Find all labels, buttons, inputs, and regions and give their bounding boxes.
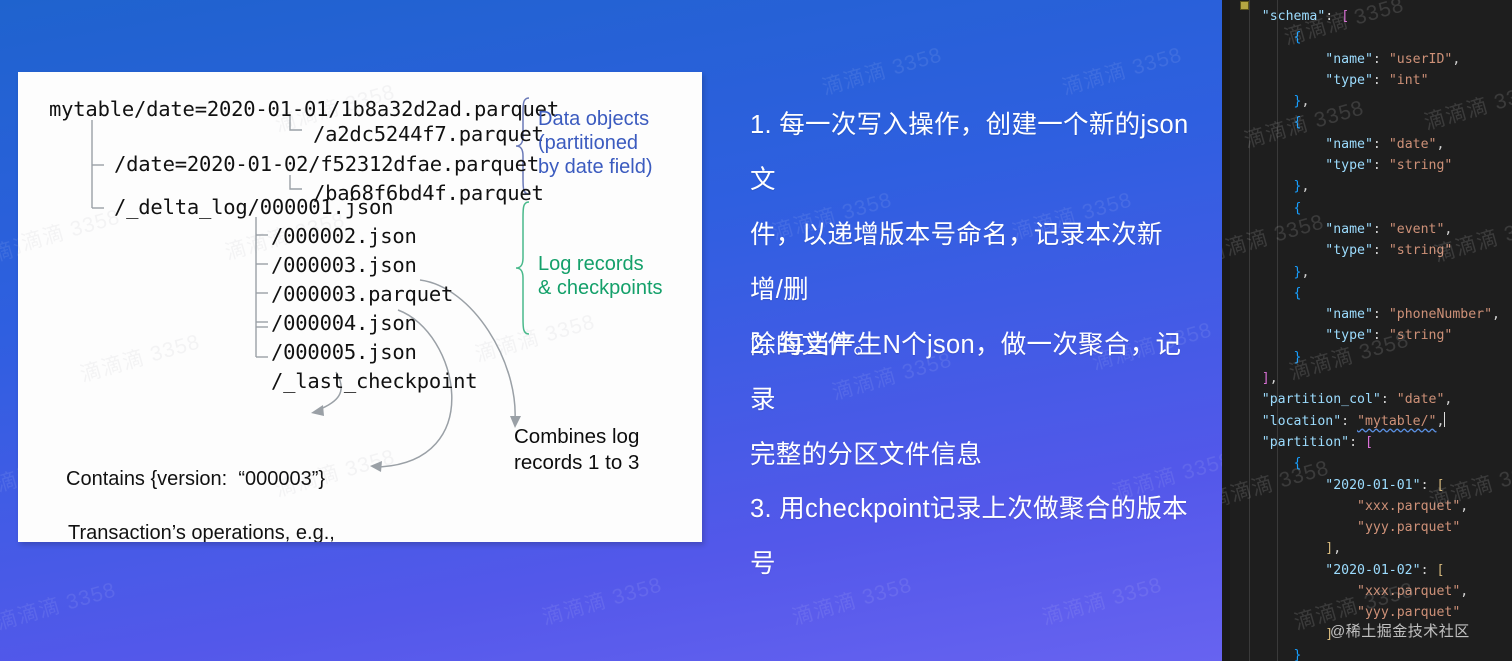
code-token: ,	[1301, 94, 1309, 109]
code-line[interactable]: },	[1222, 91, 1512, 112]
code-token: [	[1341, 9, 1349, 24]
code-token: "string"	[1389, 243, 1453, 258]
code-line[interactable]: "2020-01-01": [	[1222, 475, 1512, 496]
code-token: "partition"	[1262, 435, 1349, 450]
code-line[interactable]: "yyy.parquet"	[1222, 517, 1512, 538]
code-token: :	[1421, 563, 1437, 578]
annotation-log-records: Log records & checkpoints	[538, 252, 663, 300]
code-token: "location"	[1262, 414, 1341, 429]
code-line[interactable]: "xxx.parquet",	[1222, 496, 1512, 517]
code-line[interactable]: "2020-01-02": [	[1222, 560, 1512, 581]
code-token: {	[1294, 30, 1302, 45]
code-token: {	[1294, 456, 1302, 471]
code-token: ,	[1301, 179, 1309, 194]
code-token: ]	[1262, 371, 1270, 386]
code-token: "string"	[1389, 328, 1453, 343]
code-line[interactable]: {	[1222, 27, 1512, 48]
code-token: :	[1373, 158, 1389, 173]
code-token: :	[1373, 328, 1389, 343]
tree-line: /000005.json	[271, 342, 417, 362]
bullet-3: 3. 用checkpoint记录上次做聚合的版本号	[750, 482, 1210, 592]
diagram-card: 滴滴滴 3358 滴滴滴 3358 滴滴滴 3358 滴滴滴 3358 滴滴滴 …	[18, 72, 702, 542]
code-token: "schema"	[1262, 9, 1326, 24]
code-token: "string"	[1389, 158, 1453, 173]
code-line[interactable]: {	[1222, 283, 1512, 304]
code-line[interactable]: "name": "event",	[1222, 219, 1512, 240]
tree-line: /_last_checkpoint	[271, 371, 477, 391]
code-line[interactable]: "type": "string"	[1222, 240, 1512, 261]
tree-line: /date=2020-01-02/f52312dfae.parquet	[114, 154, 539, 174]
slide-panel: 滴滴滴 3358 滴滴滴 3358 滴滴滴 3358 滴滴滴 3358 滴滴滴 …	[0, 0, 1222, 661]
watermark: 滴滴滴 3358	[1058, 39, 1185, 102]
code-line[interactable]: ]	[1222, 624, 1512, 645]
code-line[interactable]: },	[1222, 176, 1512, 197]
code-line[interactable]: {	[1222, 198, 1512, 219]
code-token: "yyy.parquet"	[1357, 605, 1460, 620]
tree-line: /000003.parquet	[271, 284, 453, 304]
code-token: "partition_col"	[1262, 392, 1381, 407]
tree-line: /_delta_log/000001.json	[114, 197, 393, 217]
watermark: 滴滴滴 3358	[0, 574, 119, 637]
text-cursor	[1444, 412, 1445, 427]
code-token: }	[1294, 648, 1302, 661]
code-token: "2020-01-02"	[1325, 563, 1420, 578]
code-line[interactable]: },	[1222, 262, 1512, 283]
tree-line: /000003.json	[271, 255, 417, 275]
code-token: "xxx.parquet"	[1357, 584, 1460, 599]
code-line[interactable]: {	[1222, 453, 1512, 474]
tree-line: /a2dc5244f7.parquet	[313, 124, 544, 144]
code-token: :	[1373, 307, 1389, 322]
code-token: {	[1294, 201, 1302, 216]
code-token: "event"	[1389, 222, 1445, 237]
code-line[interactable]: "yyy.parquet"	[1222, 602, 1512, 623]
code-token: ,	[1460, 584, 1468, 599]
code-token: "type"	[1325, 243, 1373, 258]
code-token: [	[1436, 563, 1444, 578]
code-token: "type"	[1325, 328, 1373, 343]
code-line[interactable]: }	[1222, 645, 1512, 661]
code-token: "int"	[1389, 73, 1429, 88]
code-token: {	[1294, 286, 1302, 301]
code-token: "type"	[1325, 158, 1373, 173]
code-token: "userID"	[1389, 52, 1453, 67]
code-token: ,	[1436, 137, 1444, 152]
tree-line: /000002.json	[271, 226, 417, 246]
code-line[interactable]: ],	[1222, 538, 1512, 559]
code-token: "name"	[1325, 52, 1373, 67]
code-line[interactable]: "name": "phoneNumber",	[1222, 304, 1512, 325]
code-token: ,	[1333, 541, 1341, 556]
code-token: :	[1341, 414, 1357, 429]
code-line[interactable]: "type": "string"	[1222, 155, 1512, 176]
code-token: :	[1373, 137, 1389, 152]
watermark: 滴滴滴 3358	[818, 39, 945, 102]
code-line[interactable]: "name": "userID",	[1222, 49, 1512, 70]
code-token: ,	[1452, 52, 1460, 67]
annotation-data-objects: Data objects (partitioned by date field)	[538, 107, 653, 179]
code-line[interactable]: "name": "date",	[1222, 134, 1512, 155]
code-token: "date"	[1389, 137, 1437, 152]
code-token: "yyy.parquet"	[1357, 520, 1460, 535]
code-token: ,	[1270, 371, 1278, 386]
code-token: "date"	[1397, 392, 1445, 407]
code-token: :	[1373, 243, 1389, 258]
annotation-transaction-title: Transaction’s operations, e.g.,	[68, 522, 335, 542]
code-line[interactable]: "schema": [	[1222, 6, 1512, 27]
code-line[interactable]: "type": "string"	[1222, 325, 1512, 346]
code-token: ,	[1436, 414, 1444, 429]
code-token: ,	[1444, 222, 1452, 237]
code-token: "name"	[1325, 307, 1373, 322]
code-token: "2020-01-01"	[1325, 478, 1420, 493]
code-line[interactable]: {	[1222, 112, 1512, 133]
code-token: :	[1349, 435, 1365, 450]
code-token: ,	[1460, 499, 1468, 514]
screenshot-root: 滴滴滴 3358 滴滴滴 3358 滴滴滴 3358 滴滴滴 3358 滴滴滴 …	[0, 0, 1512, 661]
code-line[interactable]: "type": "int"	[1222, 70, 1512, 91]
bullet-2: 2. 每当产生N个json，做一次聚合，记录 完整的分区文件信息	[750, 318, 1190, 483]
code-token: "name"	[1325, 137, 1373, 152]
code-token: "phoneNumber"	[1389, 307, 1492, 322]
code-token: [	[1436, 478, 1444, 493]
code-editor-panel[interactable]: "schema": [ { "name": "userID", "type": …	[1222, 0, 1512, 661]
code-token: :	[1325, 9, 1341, 24]
code-token: "type"	[1325, 73, 1373, 88]
code-token: "name"	[1325, 222, 1373, 237]
code-token: {	[1294, 115, 1302, 130]
code-token: }	[1294, 350, 1302, 365]
code-line[interactable]: "partition_col": "date",	[1222, 389, 1512, 410]
code-token: :	[1381, 392, 1397, 407]
code-token: "xxx.parquet"	[1357, 499, 1460, 514]
code-token: :	[1421, 478, 1437, 493]
tree-line: /000004.json	[271, 313, 417, 333]
code-token: ,	[1301, 265, 1309, 280]
tree-line: mytable/date=2020-01-01/1b8a32d2ad.parqu…	[49, 99, 559, 119]
annotation-combines-log-records: Combines log records 1 to 3	[514, 424, 639, 476]
code-token: :	[1373, 73, 1389, 88]
code-token: :	[1373, 222, 1389, 237]
code-line[interactable]: "location": "mytable/",	[1222, 411, 1512, 432]
code-token: ,	[1444, 392, 1452, 407]
code-content[interactable]: "schema": [ { "name": "userID", "type": …	[1222, 0, 1512, 661]
code-token: ,	[1492, 307, 1500, 322]
code-token: "mytable/"	[1357, 414, 1436, 429]
code-token: ]	[1325, 627, 1333, 642]
code-token: [	[1365, 435, 1373, 450]
code-line[interactable]: "partition": [	[1222, 432, 1512, 453]
code-line[interactable]: }	[1222, 347, 1512, 368]
code-line[interactable]: "xxx.parquet",	[1222, 581, 1512, 602]
code-token: :	[1373, 52, 1389, 67]
watermark: 滴滴滴 3358	[538, 569, 665, 632]
annotation-contains-version: Contains {version: “000003”}	[66, 468, 325, 491]
code-line[interactable]: ],	[1222, 368, 1512, 389]
